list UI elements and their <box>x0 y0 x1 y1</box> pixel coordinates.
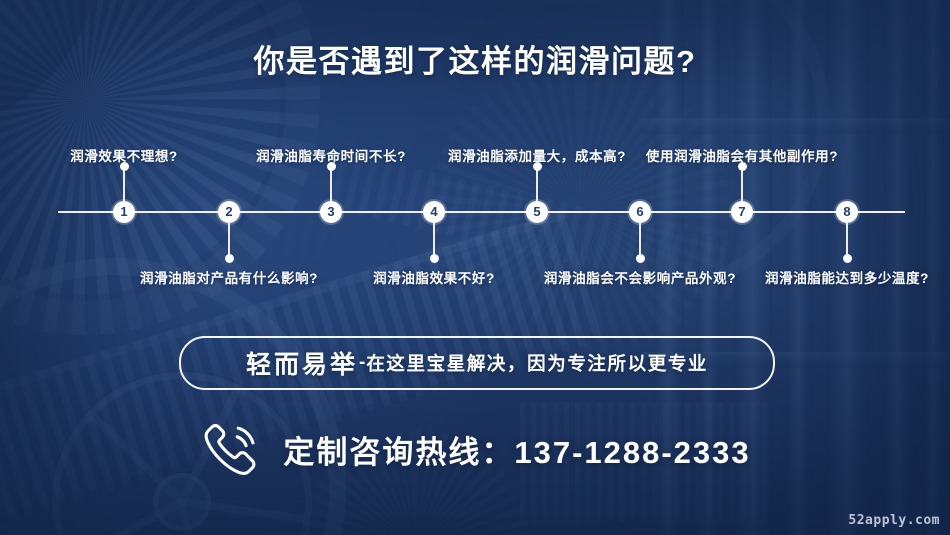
hotline-text: 定制咨询热线：137-1288-2333 <box>283 427 750 472</box>
phone-ringing-icon <box>199 418 261 480</box>
hotline-number: 137-1288-2333 <box>514 435 750 470</box>
timeline-label-8: 润滑油脂能达到多少温度? <box>765 267 929 287</box>
watermark: 52apply.com <box>848 513 940 528</box>
timeline-connector-stem <box>741 166 743 201</box>
timeline-connector-dot <box>843 254 852 263</box>
hotline-label: 定制咨询热线： <box>283 435 514 470</box>
timeline-marker-3[interactable]: 3 <box>320 201 342 223</box>
timeline-connector-stem <box>330 166 332 201</box>
slogan-headline: 轻而易举 <box>246 345 358 381</box>
timeline-marker-7[interactable]: 7 <box>731 201 753 223</box>
timeline-marker-8[interactable]: 8 <box>836 201 858 223</box>
timeline-connector-stem <box>123 166 125 201</box>
slogan-banner: 轻而易举 - 在这里宝星解决，因为专注所以更专业 <box>179 336 775 390</box>
timeline-marker-5[interactable]: 5 <box>526 201 548 223</box>
promo-poster: 你是否遇到了这样的润滑问题? 润滑效果不理想? 1 2 润滑油脂对产品有什么影响… <box>0 0 950 535</box>
timeline-connector-stem <box>228 223 230 258</box>
hotline-block: 定制咨询热线：137-1288-2333 <box>0 418 950 480</box>
timeline-connector-dot <box>430 254 439 263</box>
timeline-connector-stem <box>639 223 641 258</box>
timeline-connector-stem <box>536 166 538 201</box>
timeline-marker-2[interactable]: 2 <box>218 201 240 223</box>
timeline-connector-stem <box>846 223 848 258</box>
slogan-subtext: 在这里宝星解决，因为专注所以更专业 <box>366 350 708 376</box>
timeline-connector-stem <box>433 223 435 258</box>
timeline-label-2: 润滑油脂对产品有什么影响? <box>140 267 318 287</box>
timeline-connector-dot <box>225 254 234 263</box>
timeline-label-4: 润滑油脂效果不好? <box>373 267 495 287</box>
timeline-connector-dot <box>636 254 645 263</box>
timeline-axis <box>58 211 905 213</box>
timeline-marker-4[interactable]: 4 <box>423 201 445 223</box>
timeline-marker-1[interactable]: 1 <box>113 201 135 223</box>
timeline-marker-6[interactable]: 6 <box>629 201 651 223</box>
timeline-label-6: 润滑油脂会不会影响产品外观? <box>544 267 736 287</box>
